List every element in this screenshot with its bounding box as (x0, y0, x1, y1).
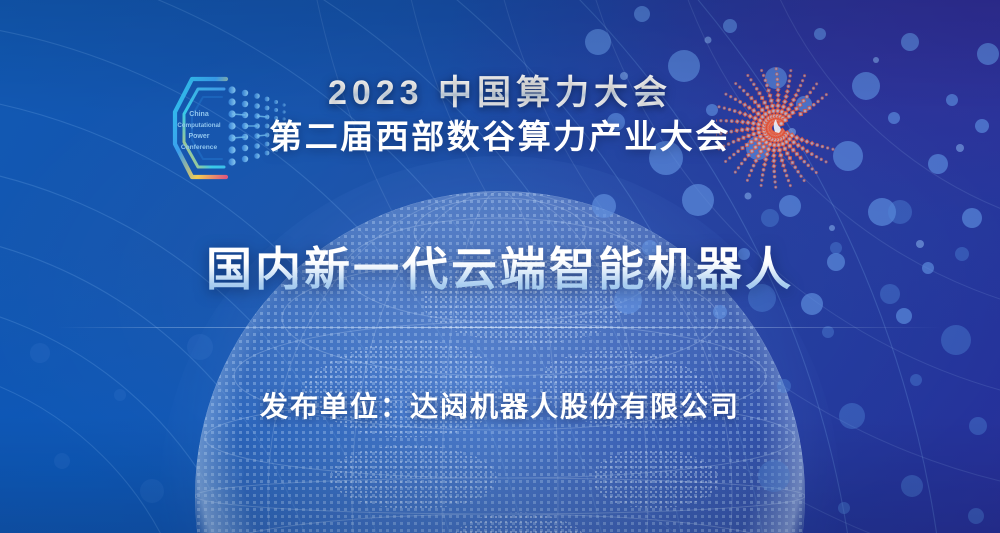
radial-spiral-graphic (716, 66, 848, 194)
decorative-dot-field-right (740, 190, 1000, 533)
publisher-label: 发布单位：达闼机器人股份有限公司 (260, 385, 740, 425)
logo-line-4: Conference (181, 144, 218, 151)
divider-line (58, 327, 942, 328)
logo-line-1: China (189, 111, 209, 118)
logo-line-3: Power (188, 133, 209, 140)
publisher-block: 发布单位：达闼机器人股份有限公司 (0, 385, 1000, 425)
headline-block: 国内新一代云端智能机器人 (0, 244, 1000, 295)
page-title: 国内新一代云端智能机器人 (206, 244, 794, 295)
china-computational-power-conference-logo: China Computational Power Conference (172, 72, 292, 184)
presentation-slide: China Computational Power Conference 202… (0, 0, 1000, 533)
logo-line-2: Computational (177, 122, 221, 129)
